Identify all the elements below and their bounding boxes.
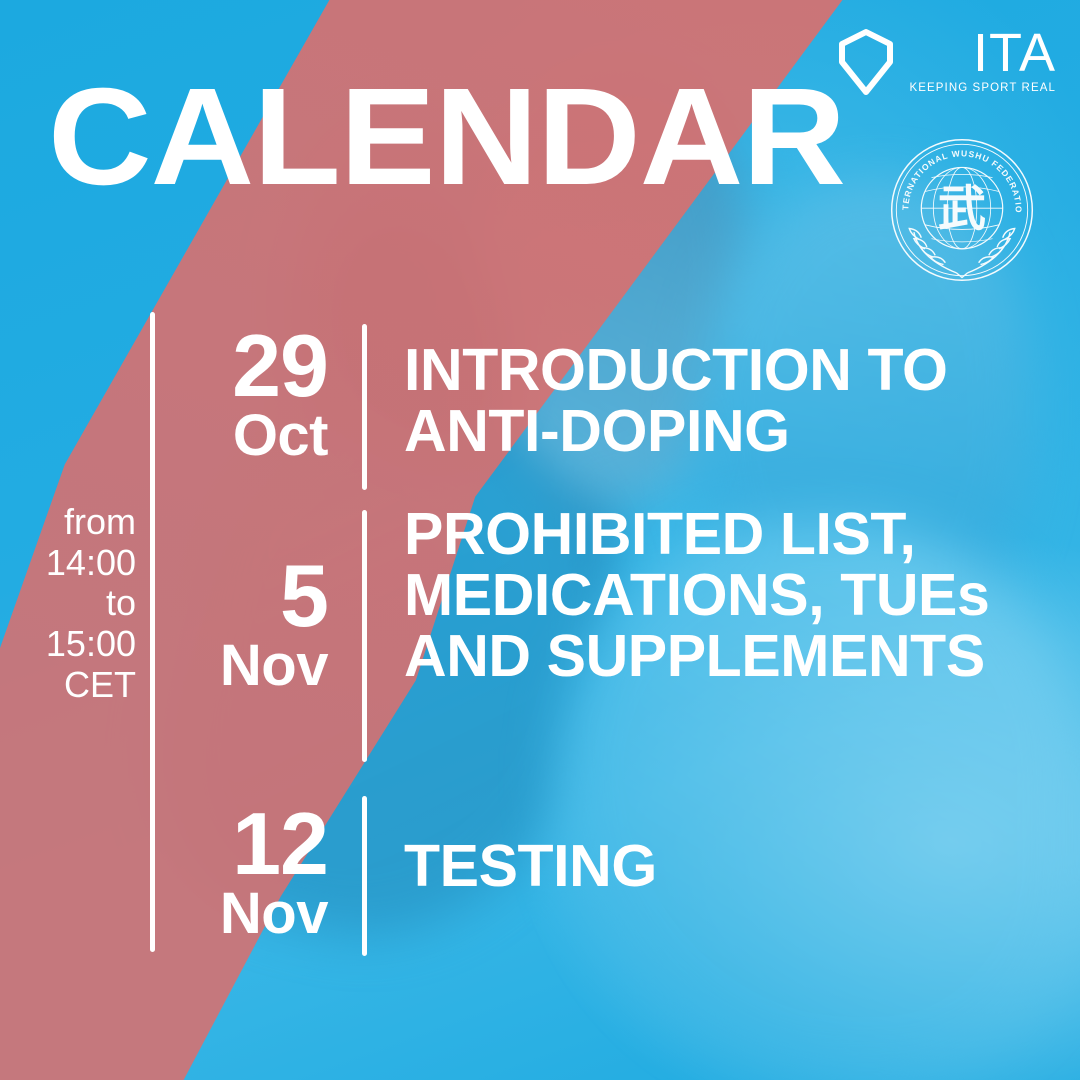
event-month: Nov: [150, 886, 328, 942]
vertical-divider-row: [362, 510, 367, 762]
svg-text:武: 武: [938, 181, 986, 237]
event-month: Nov: [150, 638, 328, 694]
time-to-value: 15:00: [46, 623, 136, 664]
time-timezone: CET: [64, 664, 136, 705]
page-title: CALENDAR: [48, 68, 845, 206]
event-title: TESTING: [404, 836, 1064, 897]
event-title: INTRODUCTION TO ANTI-DOPING: [404, 340, 1064, 462]
event-date: 29 Oct: [150, 324, 328, 464]
vertical-divider-row: [362, 796, 367, 956]
schedule-block: from 14:00 to 15:00 CET 29 Oct INTRODUCT…: [0, 306, 1080, 956]
event-month: Oct: [150, 408, 328, 464]
ita-wordmark: ITA: [973, 28, 1056, 79]
event-day: 29: [150, 324, 328, 408]
ita-logo: ITA KEEPING SPORT REAL: [835, 28, 1056, 96]
vertical-divider-row: [362, 324, 367, 490]
session-time: from 14:00 to 15:00 CET: [0, 502, 136, 705]
event-title: PROHIBITED LIST, MEDICATIONS, TUEs AND S…: [404, 504, 1064, 686]
time-to-label: to: [106, 582, 136, 623]
event-title-part-3: AND SUPPLEMENTS: [404, 623, 985, 689]
globe-laurel-emblem-icon: 武 INTERNATIONAL WUSHU FEDERATION: [888, 136, 1036, 284]
diamond-gem-icon: [835, 28, 897, 96]
time-from-value: 14:00: [46, 542, 136, 583]
event-date: 5 Nov: [150, 554, 328, 694]
ita-text-group: ITA KEEPING SPORT REAL: [909, 28, 1056, 94]
event-day: 12: [150, 802, 328, 886]
event-title-part-2: s: [957, 562, 989, 628]
ita-tagline: KEEPING SPORT REAL: [909, 82, 1056, 94]
calendar-poster: CALENDAR ITA KEEPING SPORT REAL 武 INTERN…: [0, 0, 1080, 1080]
event-title-part-1: PROHIBITED LIST, MEDICATIONS, TUE: [404, 501, 957, 628]
event-date: 12 Nov: [150, 802, 328, 942]
time-from-label: from: [64, 501, 136, 542]
event-day: 5: [150, 554, 328, 638]
